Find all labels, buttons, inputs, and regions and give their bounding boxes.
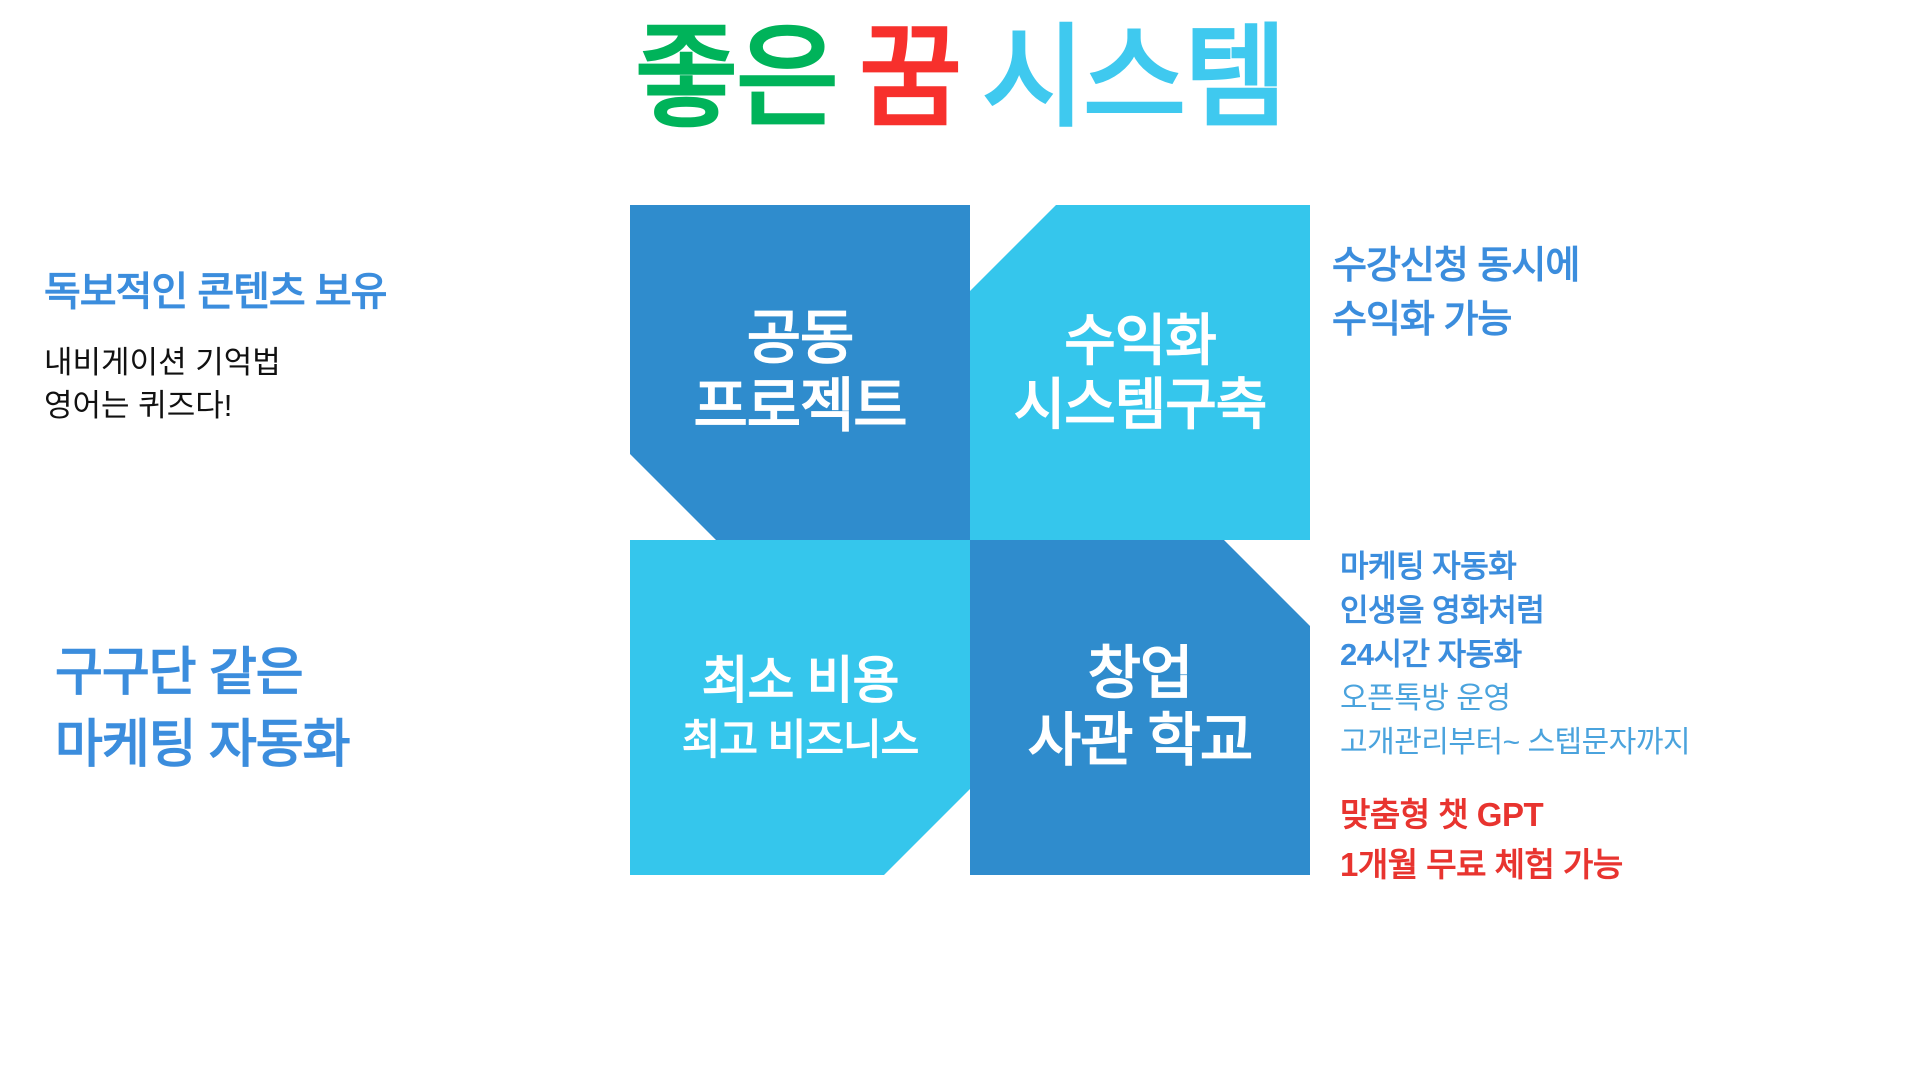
quadrant-top-left-line2: 프로젝트 (693, 373, 906, 440)
right-promo-line-1: 맞춤형 챗 GPT (1340, 790, 1860, 840)
quadrant-top-right-line2: 시스템구축 (1014, 373, 1267, 437)
quadrant-bottom-left[interactable]: 최소 비용 최고 비즈니스 (630, 540, 970, 875)
quadrant-bottom-right[interactable]: 창업 사관 학교 (970, 540, 1310, 875)
left-marketing-block: 구구단 같은 마케팅 자동화 (55, 638, 595, 782)
left-sub-line-2: 영어는 퀴즈다! (44, 385, 564, 428)
right-promo-line-2: 1개월 무료 체험 가능 (1340, 840, 1860, 890)
quadrant-top-left-line1: 공동 (747, 305, 854, 372)
right-heading-line-2: 수익화 가능 (1332, 294, 1832, 348)
page-title: 좋은꿈시스템 (0, 14, 1920, 143)
left-sub-line-1: 내비게이션 기억법 (44, 342, 564, 385)
right-list-bold-1: 마케팅 자동화 (1340, 545, 1860, 589)
title-segment-3: 시스템 (982, 15, 1285, 140)
quadrant-top-left[interactable]: 공동 프로젝트 (630, 205, 970, 540)
right-promo-block: 맞춤형 챗 GPT 1개월 무료 체험 가능 (1340, 790, 1860, 889)
quadrant-diagram: 공동 프로젝트 수익화 시스템구축 최소 비용 최고 비즈니스 창업 사관 학교 (630, 205, 1310, 875)
left-content-block: 독보적인 콘텐츠 보유 내비게이션 기억법 영어는 퀴즈다! (44, 268, 564, 428)
quadrant-bottom-left-line1: 최소 비용 (702, 652, 899, 710)
title-segment-1: 좋은 (635, 15, 837, 140)
right-heading-block: 수강신청 동시에 수익화 가능 (1332, 240, 1832, 348)
title-segment-2: 꿈 (859, 15, 960, 140)
left-heading: 독보적인 콘텐츠 보유 (44, 268, 564, 316)
right-list-regular-2: 고개관리부터~ 스텝문자까지 (1340, 721, 1860, 765)
quadrant-top-right[interactable]: 수익화 시스템구축 (970, 205, 1310, 540)
quadrant-top-right-line1: 수익화 (1064, 309, 1216, 373)
quadrant-bottom-right-line1: 창업 (1088, 641, 1193, 707)
right-list-bold-2: 인생을 영화처럼 (1340, 589, 1860, 633)
quadrant-bottom-left-line2: 최고 비즈니스 (682, 716, 919, 764)
right-feature-list: 마케팅 자동화 인생을 영화처럼 24시간 자동화 오픈톡방 운영 고개관리부터… (1340, 545, 1860, 764)
right-list-bold-3: 24시간 자동화 (1340, 633, 1860, 677)
right-heading-line-1: 수강신청 동시에 (1332, 240, 1832, 294)
left-big-line-1: 구구단 같은 (55, 638, 595, 710)
quadrant-bottom-right-line2: 사관 학교 (1028, 708, 1253, 774)
right-list-regular-1: 오픈톡방 운영 (1340, 677, 1860, 721)
left-big-line-2: 마케팅 자동화 (55, 710, 595, 782)
